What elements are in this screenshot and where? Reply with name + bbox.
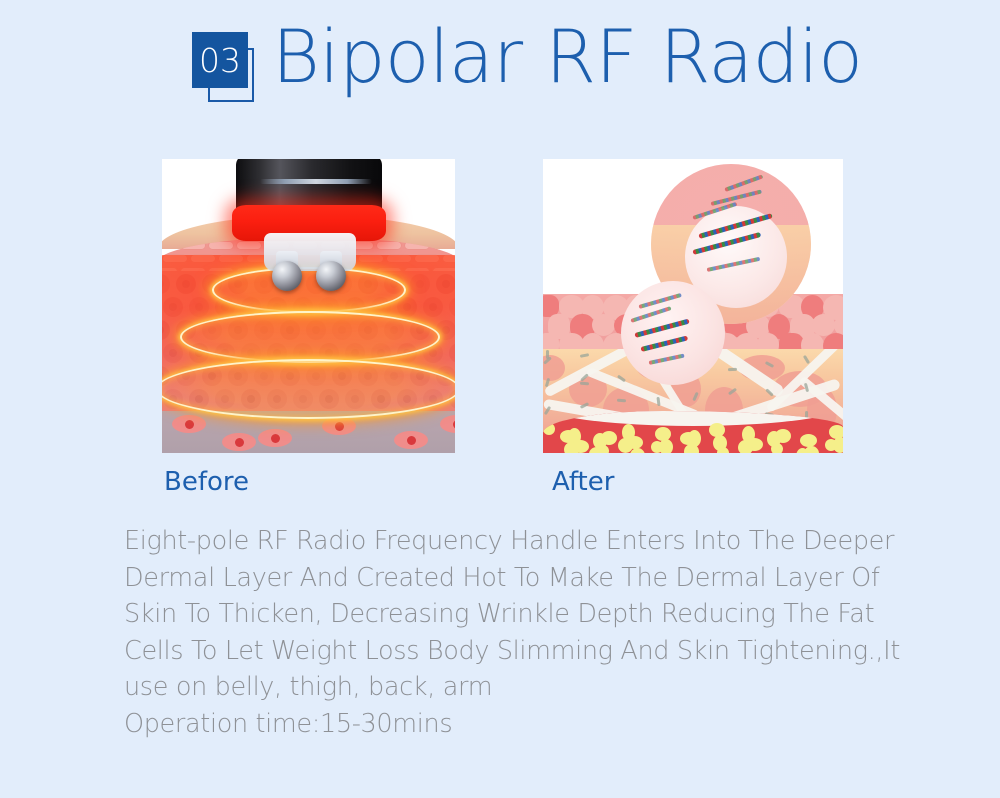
fibroblast-mark [580, 353, 589, 358]
collagen-helix [640, 335, 688, 351]
ball-electrode-left [272, 261, 302, 291]
fat-cell [560, 430, 577, 443]
rf-energy-ring-3 [162, 359, 455, 419]
page-header: 03 Bipolar RF Radio [0, 0, 1000, 140]
collagen-magnifier-small [621, 281, 725, 385]
fat-cell [829, 425, 843, 439]
fibroblast-mark [803, 355, 810, 364]
description-block: Eight-pole RF Radio Frequency Handle Ent… [124, 523, 914, 742]
fat-layer [543, 411, 843, 453]
collagen-helix [630, 306, 671, 323]
fat-cell [655, 427, 671, 441]
fat-cell [825, 439, 837, 451]
collagen-helix [634, 319, 689, 338]
fat-cell [713, 435, 727, 451]
badge-filled-square: 03 [192, 32, 248, 88]
after-illustration [543, 159, 843, 453]
fat-cell [738, 440, 753, 453]
section-number-badge: 03 [192, 32, 262, 108]
collagen-helix [649, 354, 685, 365]
fat-cell [767, 431, 781, 447]
fat-cell [800, 434, 817, 447]
rf-handpiece [230, 159, 388, 297]
badge-number-label: 03 [199, 44, 241, 77]
operation-time-line: Operation time:15-30mins [124, 706, 914, 743]
rf-energy-ring-2 [180, 311, 440, 363]
collagen-helix [638, 293, 681, 309]
ball-electrode-right [316, 261, 346, 291]
fat-layer-wave-edge [543, 411, 843, 426]
fat-cell [618, 438, 633, 453]
fat-cell [709, 423, 725, 437]
epidermis-cell [432, 241, 455, 250]
before-illustration [162, 159, 455, 453]
epidermis-cell [180, 241, 206, 250]
fat-cell [684, 444, 699, 453]
handpiece-highlight-slot [260, 179, 372, 184]
epidermis-cell [162, 241, 178, 250]
epidermis-cell [404, 241, 430, 250]
figure-image-before [162, 159, 455, 453]
fat-cell [564, 442, 579, 453]
fat-cell [543, 423, 555, 435]
description-paragraph: Eight-pole RF Radio Frequency Handle Ent… [124, 523, 914, 706]
fibroblast-mark [728, 368, 737, 371]
figure-image-after [543, 159, 843, 453]
page-title: Bipolar RF Radio [272, 16, 862, 100]
caption-before: Before [164, 469, 249, 495]
subcutaneous-cell [258, 429, 292, 447]
subcutaneous-cell [394, 431, 428, 449]
fibroblast-mark [617, 399, 626, 403]
caption-after: After [552, 469, 614, 495]
subcutaneous-cell [222, 433, 256, 451]
fat-cell [680, 432, 697, 445]
fat-cell [651, 441, 663, 453]
